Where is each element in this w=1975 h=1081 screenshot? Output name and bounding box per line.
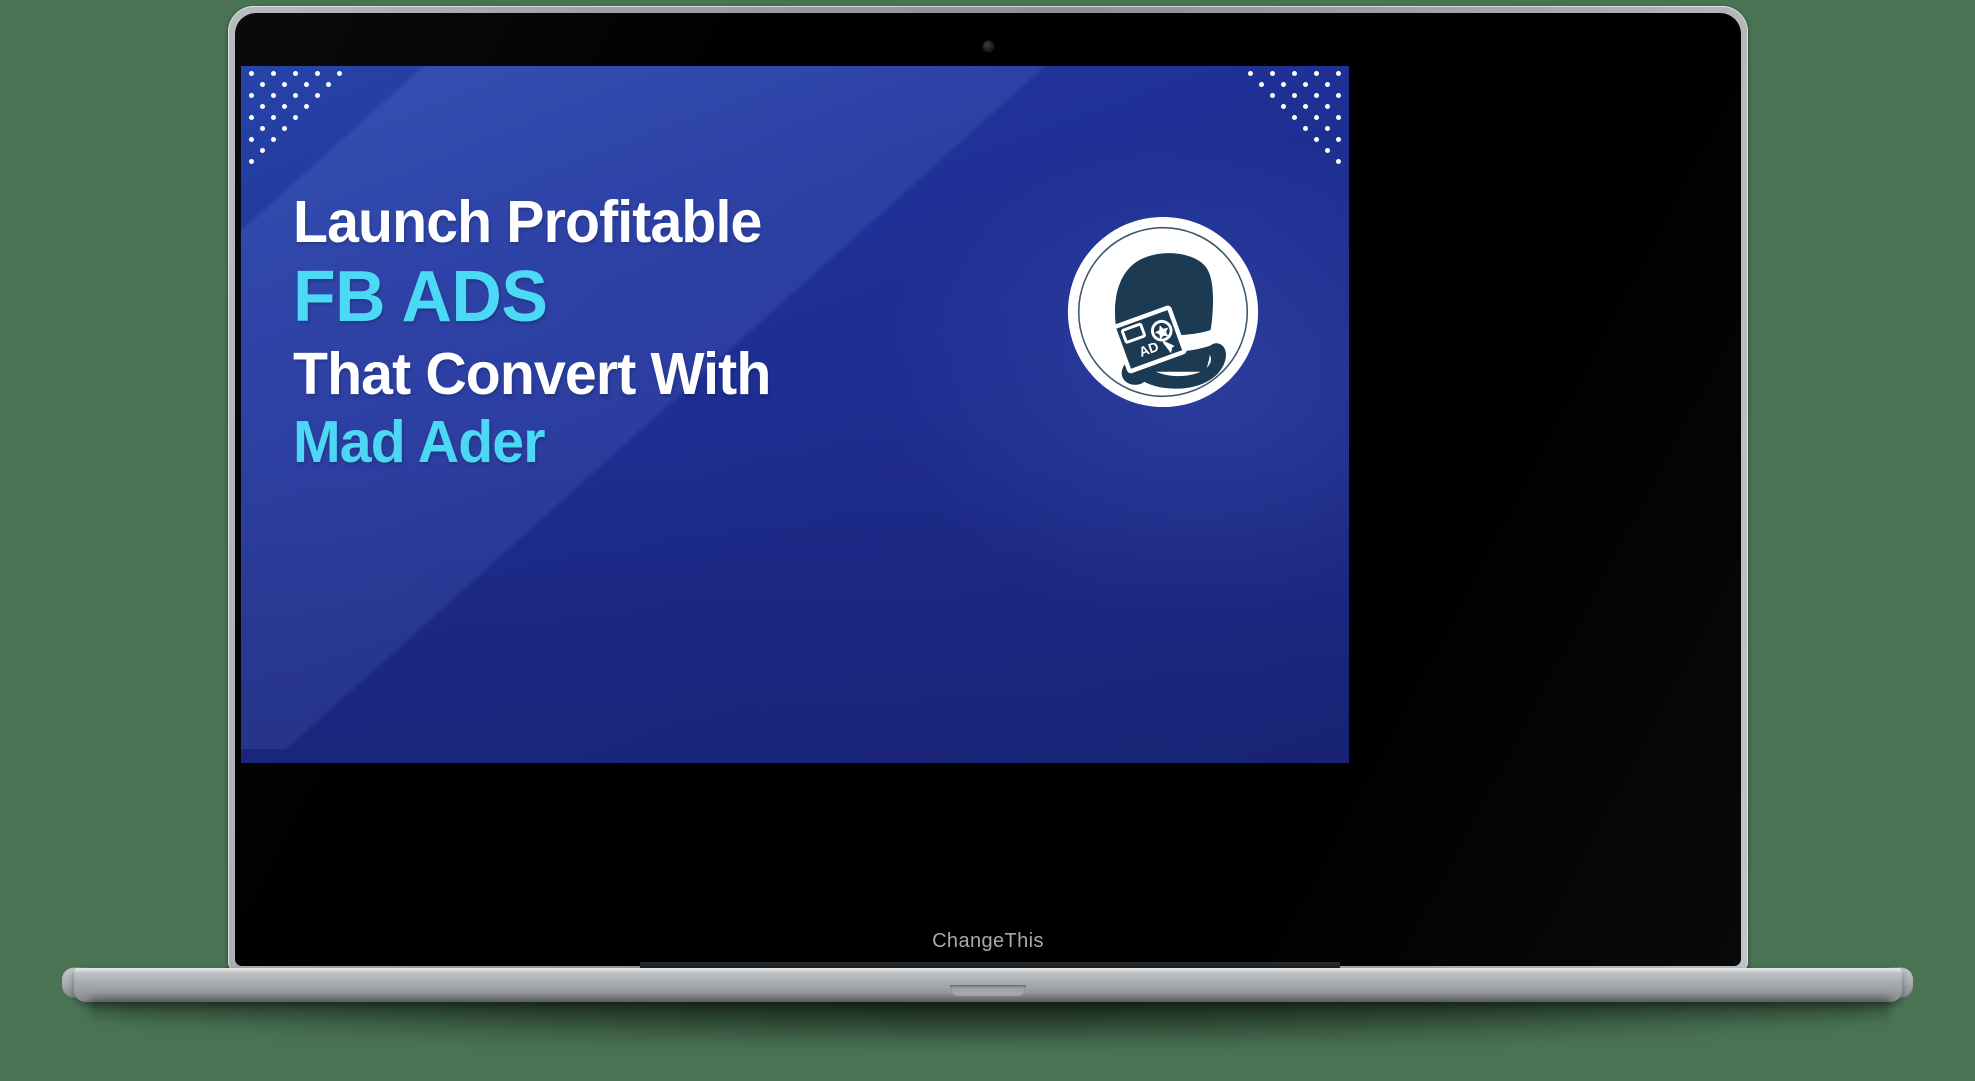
base-thumb-notch: [950, 985, 1026, 996]
laptop-mockup: Launch Profitable FB ADS That Convert Wi…: [0, 0, 1975, 1081]
base-top-edge: [74, 968, 1902, 972]
screen-content: Launch Profitable FB ADS That Convert Wi…: [241, 66, 1349, 763]
headline-line-4: Mad Ader: [293, 414, 933, 471]
headline-block: Launch Profitable FB ADS That Convert Wi…: [293, 194, 953, 471]
display-bezel: Launch Profitable FB ADS That Convert Wi…: [235, 13, 1741, 966]
webcam-icon: [983, 41, 994, 52]
laptop-base: [74, 968, 1902, 1002]
laptop-lid: Launch Profitable FB ADS That Convert Wi…: [228, 6, 1748, 972]
screenshot-canvas: Launch Profitable FB ADS That Convert Wi…: [0, 0, 1975, 1081]
headline-line-2: FB ADS: [293, 263, 933, 332]
headline-line-1: Launch Profitable: [293, 194, 933, 251]
mad-ader-top-hat-logo: AD: [1065, 214, 1261, 410]
device-brand-label: ChangeThis: [235, 930, 1741, 953]
headline-line-3: That Convert With: [293, 346, 933, 403]
